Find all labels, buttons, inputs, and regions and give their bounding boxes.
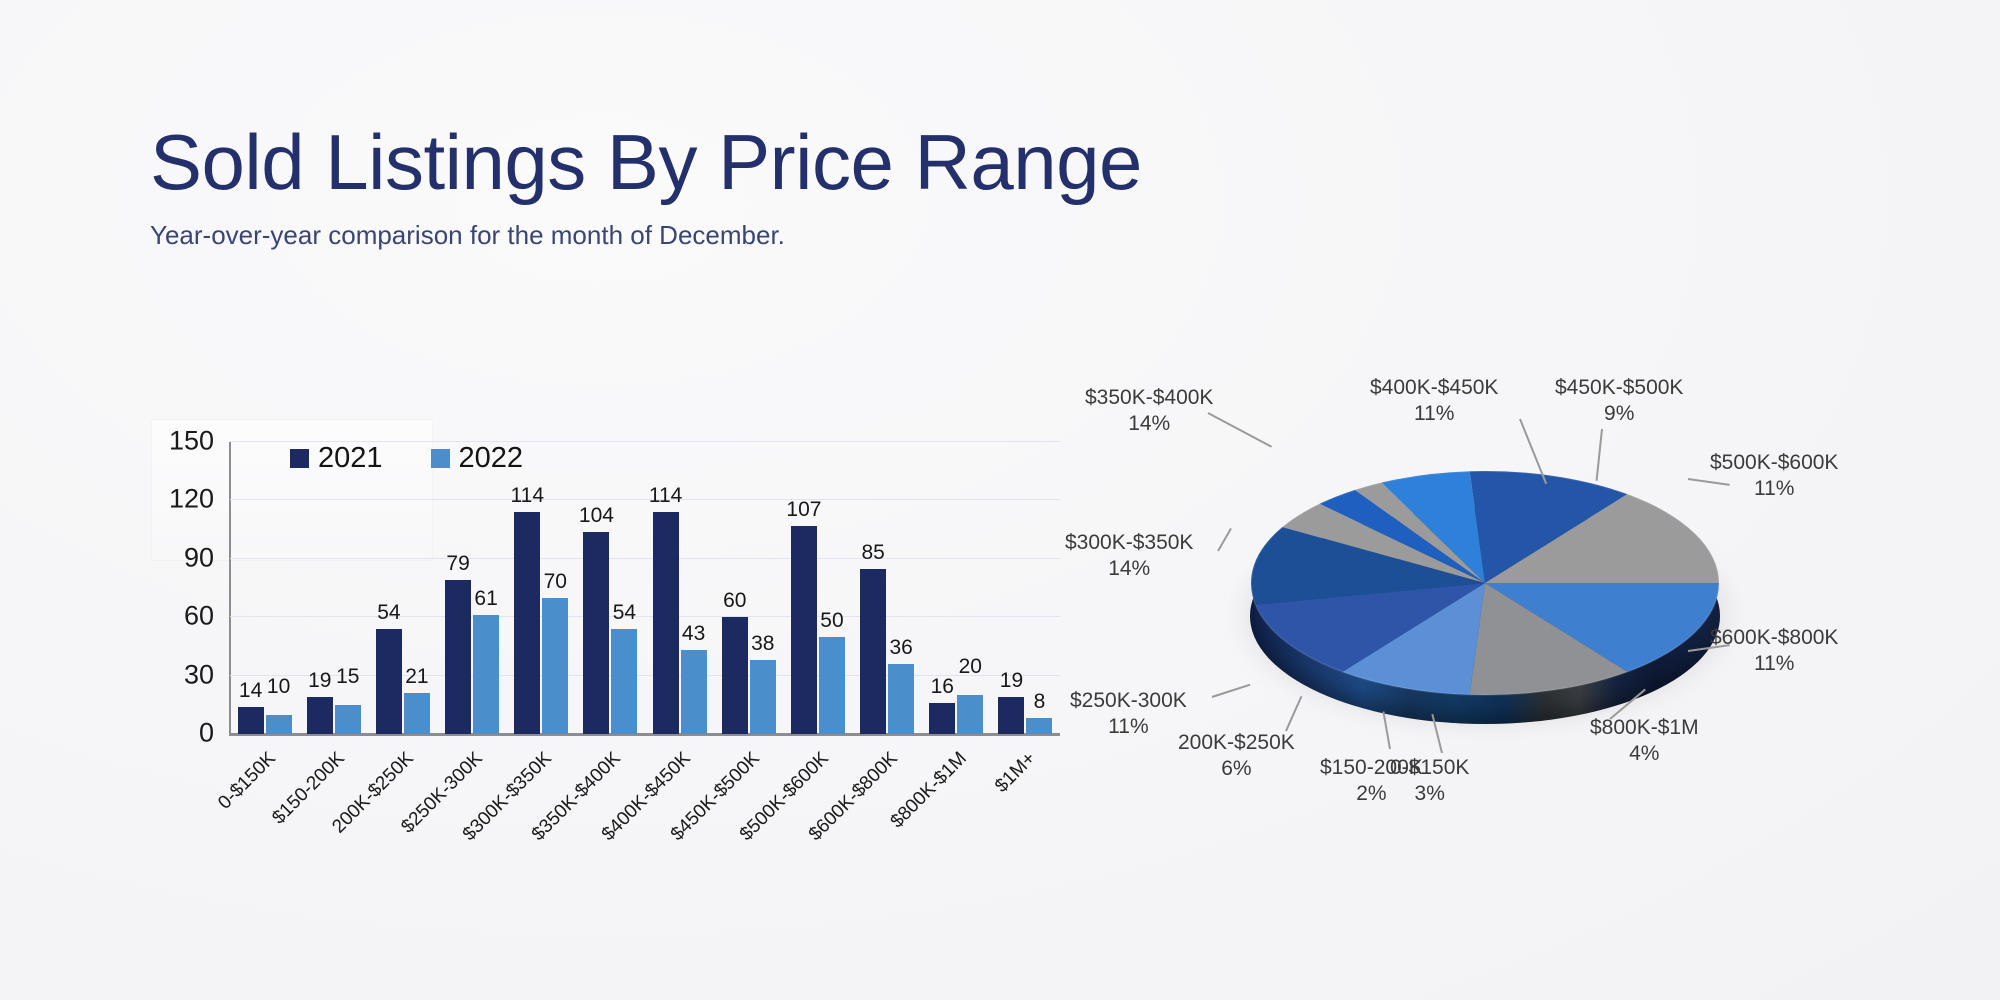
- bar-chart: 2021 2022 1501209060300 14100-$150K1915$…: [140, 420, 1080, 840]
- bar-2021[interactable]: 14: [238, 707, 264, 734]
- bar-chart-legend: 2021 2022: [290, 442, 523, 475]
- pie-leader-line: [1217, 528, 1232, 552]
- y-axis-tick-label: 150: [169, 426, 214, 457]
- bar-group[interactable]: 1915$150-200K: [299, 442, 368, 734]
- bar-group[interactable]: 5421200K-$250K: [368, 442, 437, 734]
- bar-2022[interactable]: 43: [681, 650, 707, 734]
- pie-callout-percent: 11%: [1370, 401, 1498, 427]
- bar-2021[interactable]: 104: [583, 532, 609, 734]
- bar-groups: 14100-$150K1915$150-200K5421200K-$250K79…: [230, 442, 1060, 734]
- legend-item-2021[interactable]: 2021: [290, 442, 383, 475]
- bar-chart-plot-area: 1501209060300 14100-$150K1915$150-200K54…: [230, 442, 1060, 734]
- pie-leader-line: [1212, 684, 1251, 698]
- pie-callout-label: $450K-$500K: [1555, 376, 1683, 399]
- y-axis-tick-label: 0: [199, 718, 214, 749]
- bar-2022[interactable]: 50: [819, 637, 845, 734]
- pie-callout-400k-450k: $400K-$450K11%: [1370, 375, 1498, 427]
- bar-group[interactable]: 14100-$150K: [230, 442, 299, 734]
- y-axis-tick-label: 120: [169, 484, 214, 515]
- bar-group[interactable]: 7961$250K-300K: [438, 442, 507, 734]
- bar-group[interactable]: 10454$350K-$400K: [576, 442, 645, 734]
- bar-2022[interactable]: 61: [473, 615, 499, 734]
- pie-callout-450k-500k: $450K-$500K9%: [1555, 375, 1683, 427]
- bar-value-label: 10: [267, 675, 290, 699]
- pie-callout-percent: 9%: [1555, 401, 1683, 427]
- pie-top-face: [1250, 470, 1720, 696]
- y-axis-tick-label: 30: [184, 659, 214, 690]
- header: Sold Listings By Price Range Year-over-y…: [150, 120, 1142, 251]
- pie-callout-label: $800K-$1M: [1590, 716, 1699, 739]
- bar-2022[interactable]: 36: [888, 664, 914, 734]
- bar-value-label: 15: [336, 665, 359, 689]
- bar-2021[interactable]: 107: [791, 526, 817, 734]
- x-axis-tick-label: 0-$150K: [214, 748, 280, 814]
- page-subtitle: Year-over-year comparison for the month …: [150, 220, 1142, 251]
- pie-chart: $350K-$400K14%$400K-$450K11%$450K-$500K9…: [1090, 400, 1950, 870]
- bar-2022[interactable]: 8: [1026, 718, 1052, 734]
- bar-value-label: 114: [511, 484, 544, 508]
- bar-value-label: 38: [751, 632, 774, 656]
- bar-2022[interactable]: 20: [957, 695, 983, 734]
- bar-value-label: 21: [405, 665, 428, 689]
- bar-2021[interactable]: 79: [445, 580, 471, 734]
- page-title: Sold Listings By Price Range: [150, 120, 1142, 204]
- bar-value-label: 114: [649, 484, 682, 508]
- pie-callout-label: $350K-$400K: [1085, 386, 1213, 409]
- bar-2021[interactable]: 19: [307, 697, 333, 734]
- pie-callout-label: $250K-300K: [1070, 689, 1187, 712]
- bar-2021[interactable]: 19: [998, 697, 1024, 734]
- pie-callout-percent: 11%: [1070, 714, 1187, 740]
- bar-2021[interactable]: 85: [860, 569, 886, 734]
- bar-value-label: 70: [544, 570, 567, 594]
- bar-value-label: 20: [959, 655, 982, 679]
- bar-group[interactable]: 10750$500K-$600K: [783, 442, 852, 734]
- pie-callout-350k-400k: $350K-$400K14%: [1085, 385, 1213, 437]
- bar-value-label: 19: [1000, 669, 1023, 693]
- bar-group[interactable]: 198$1M+: [991, 442, 1060, 734]
- pie-callout-500k-600k: $500K-$600K11%: [1710, 450, 1838, 502]
- pie-callout-label: $500K-$600K: [1710, 451, 1838, 474]
- pie-callout-percent: 14%: [1085, 411, 1213, 437]
- pie-callout-percent: 11%: [1710, 476, 1838, 502]
- bar-value-label: 61: [474, 587, 497, 611]
- bar-group[interactable]: 11470$300K-$350K: [507, 442, 576, 734]
- bar-2021[interactable]: 114: [653, 512, 679, 734]
- bar-value-label: 107: [786, 498, 821, 522]
- legend-label-2021: 2021: [318, 442, 383, 475]
- bar-value-label: 104: [579, 504, 614, 528]
- pie-callout-percent: 11%: [1710, 651, 1838, 677]
- bar-2022[interactable]: 10: [266, 715, 292, 734]
- bar-2021[interactable]: 16: [929, 703, 955, 734]
- bar-value-label: 54: [613, 601, 636, 625]
- pie-callout-250k-300k: $250K-300K11%: [1070, 688, 1187, 740]
- bar-2022[interactable]: 70: [542, 598, 568, 734]
- y-axis-tick-label: 60: [184, 601, 214, 632]
- bar-2021[interactable]: 60: [722, 617, 748, 734]
- bar-value-label: 43: [682, 622, 705, 646]
- pie-callout-800k-1m: $800K-$1M4%: [1590, 715, 1699, 767]
- pie-callout-percent: 4%: [1590, 741, 1699, 767]
- bar-2022[interactable]: 38: [750, 660, 776, 734]
- bar-value-label: 60: [723, 589, 746, 613]
- bar-value-label: 14: [239, 679, 262, 703]
- bar-2022[interactable]: 21: [404, 693, 430, 734]
- bar-value-label: 36: [889, 636, 912, 660]
- pie-callout-600k-800k: $600K-$800K11%: [1710, 625, 1838, 677]
- legend-swatch-2022-icon: [431, 449, 450, 468]
- bar-value-label: 16: [931, 675, 954, 699]
- pie-callout-label: 200K-$250K: [1178, 731, 1295, 754]
- bar-group[interactable]: 8536$600K-$800K: [853, 442, 922, 734]
- pie-callout-label: $300K-$350K: [1065, 531, 1193, 554]
- bar-2021[interactable]: 54: [376, 629, 402, 734]
- bar-group[interactable]: 11443$400K-$450K: [645, 442, 714, 734]
- pie-callout-label: $150-200K: [1320, 756, 1423, 779]
- bar-value-label: 50: [820, 609, 843, 633]
- pie-3d-stage: [1250, 470, 1720, 720]
- pie-callout-150-200k: $150-200K2%: [1320, 755, 1423, 807]
- pie-callout-percent: 6%: [1178, 756, 1295, 782]
- bar-group[interactable]: 1620$800K-$1M: [922, 442, 991, 734]
- bar-value-label: 19: [308, 669, 331, 693]
- bar-value-label: 8: [1034, 690, 1046, 714]
- bar-2021[interactable]: 114: [514, 512, 540, 734]
- bar-value-label: 79: [446, 552, 469, 576]
- legend-label-2022: 2022: [459, 442, 524, 475]
- legend-swatch-2021-icon: [290, 449, 309, 468]
- bar-value-label: 54: [377, 601, 400, 625]
- bar-value-label: 85: [861, 541, 884, 565]
- pie-callout-200k-250k: 200K-$250K6%: [1178, 730, 1295, 782]
- pie-callout-percent: 2%: [1320, 781, 1423, 807]
- x-axis-tick-label: $1M+: [991, 748, 1041, 798]
- bar-group[interactable]: 6038$450K-$500K: [714, 442, 783, 734]
- bar-2022[interactable]: 15: [335, 705, 361, 734]
- pie-callout-label: $400K-$450K: [1370, 376, 1498, 399]
- bar-2022[interactable]: 54: [611, 629, 637, 734]
- y-axis-tick-label: 90: [184, 542, 214, 573]
- pie-callout-300k-350k: $300K-$350K14%: [1065, 530, 1193, 582]
- pie-slices-svg: [1250, 470, 1720, 696]
- pie-callout-percent: 14%: [1065, 556, 1193, 582]
- legend-item-2022[interactable]: 2022: [431, 442, 524, 475]
- pie-leader-line: [1208, 412, 1273, 448]
